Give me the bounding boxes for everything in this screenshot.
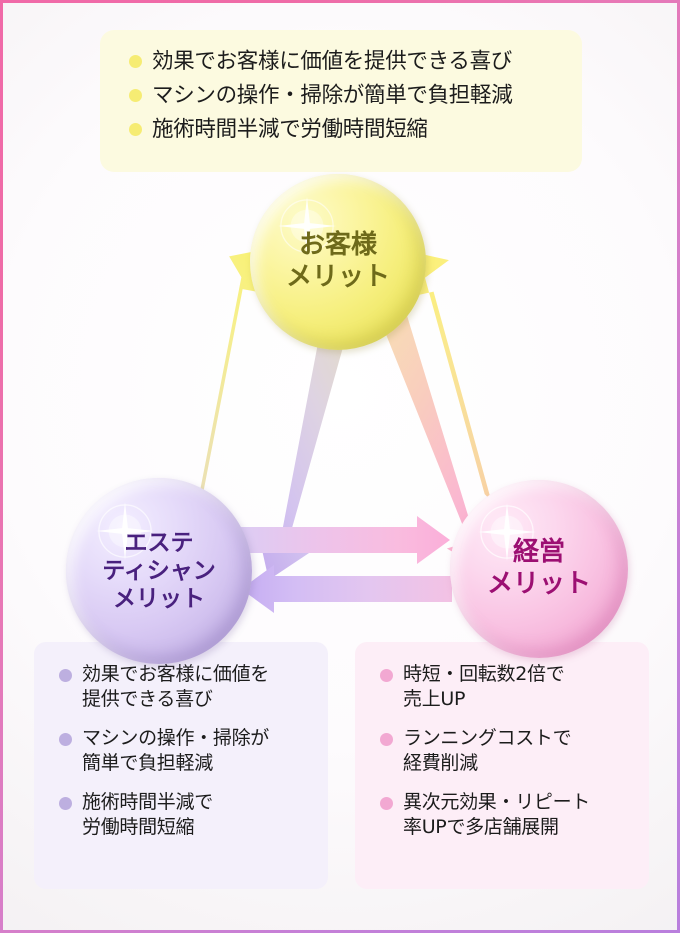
bullet-text-line2: 労働時間短縮 xyxy=(82,815,328,840)
list-item: 異次元効果・リピート 率UPで多店舗展開 xyxy=(379,790,649,841)
circle-management-merit[interactable]: 経営 メリット xyxy=(450,480,628,658)
bullet-text-line2: 率UPで多店舗展開 xyxy=(403,815,649,840)
management-merit-panel: 時短・回転数2倍で 売上UP ランニングコストで 経費削減 異次元効果・リピート… xyxy=(355,642,649,889)
list-item: 時短・回転数2倍で 売上UP xyxy=(379,662,649,713)
bullet-text: 効果でお客様に価値を提供できる喜び xyxy=(152,49,512,74)
diagram-canvas: 効果でお客様に価値を提供できる喜び マシンの操作・掃除が簡単で負担軽減 施術時間… xyxy=(0,0,680,933)
list-item: マシンの操作・掃除が 簡単で負担軽減 xyxy=(58,726,328,777)
bullet-text: マシンの操作・掃除が簡単で負担軽減 xyxy=(152,83,512,108)
circle-label-line2: メリット xyxy=(487,569,591,601)
list-item: ランニングコストで 経費削減 xyxy=(379,726,649,777)
arrow-esthetician-to-management xyxy=(238,516,450,564)
list-item: マシンの操作・掃除が簡単で負担軽減 xyxy=(128,82,582,111)
list-item: 施術時間半減で労働時間短縮 xyxy=(128,116,582,145)
bullet-text-line2: 経費削減 xyxy=(403,751,649,776)
bullet-text-line1: 異次元効果・リピート xyxy=(403,791,590,813)
circle-esthetician-merit[interactable]: エステ ティシャン メリット xyxy=(66,478,252,664)
bullet-text-line1: マシンの操作・掃除が xyxy=(82,727,269,749)
bullet-text-line2: 売上UP xyxy=(403,687,649,712)
circle-label-line2: メリット xyxy=(286,262,390,294)
circle-label-line3: メリット xyxy=(113,585,205,613)
esthetician-bullet-list: 効果でお客様に価値を 提供できる喜び マシンの操作・掃除が 簡単で負担軽減 施術… xyxy=(58,662,328,841)
list-item: 効果でお客様に価値を提供できる喜び xyxy=(128,48,582,77)
circle-label-line1: お客様 xyxy=(299,230,377,262)
arrow-customer-to-esthetician xyxy=(247,315,362,580)
arrow-management-to-esthetician xyxy=(241,565,452,613)
management-bullet-list: 時短・回転数2倍で 売上UP ランニングコストで 経費削減 異次元効果・リピート… xyxy=(379,662,649,841)
circle-label-line2: ティシャン xyxy=(102,557,216,585)
circle-customer-merit[interactable]: お客様 メリット xyxy=(250,174,426,350)
bullet-text-line1: ランニングコストで xyxy=(403,727,571,749)
bullet-text-line1: 時短・回転数2倍で xyxy=(403,663,564,685)
circle-label-line1: エステ xyxy=(125,529,194,557)
bullet-text-line2: 提供できる喜び xyxy=(82,687,328,712)
top-bullet-list: 効果でお客様に価値を提供できる喜び マシンの操作・掃除が簡単で負担軽減 施術時間… xyxy=(128,48,582,144)
esthetician-merit-panel: 効果でお客様に価値を 提供できる喜び マシンの操作・掃除が 簡単で負担軽減 施術… xyxy=(34,642,328,889)
bullet-text-line2: 簡単で負担軽減 xyxy=(82,751,328,776)
bullet-text-line1: 効果でお客様に価値を xyxy=(82,663,269,685)
circle-label-line1: 経営 xyxy=(513,537,565,569)
list-item: 効果でお客様に価値を 提供できる喜び xyxy=(58,662,328,713)
bullet-text: 施術時間半減で労働時間短縮 xyxy=(152,117,428,142)
list-item: 施術時間半減で 労働時間短縮 xyxy=(58,790,328,841)
bullet-text-line1: 施術時間半減で xyxy=(82,791,213,813)
customer-merit-summary-panel: 効果でお客様に価値を提供できる喜び マシンの操作・掃除が簡単で負担軽減 施術時間… xyxy=(100,30,582,172)
